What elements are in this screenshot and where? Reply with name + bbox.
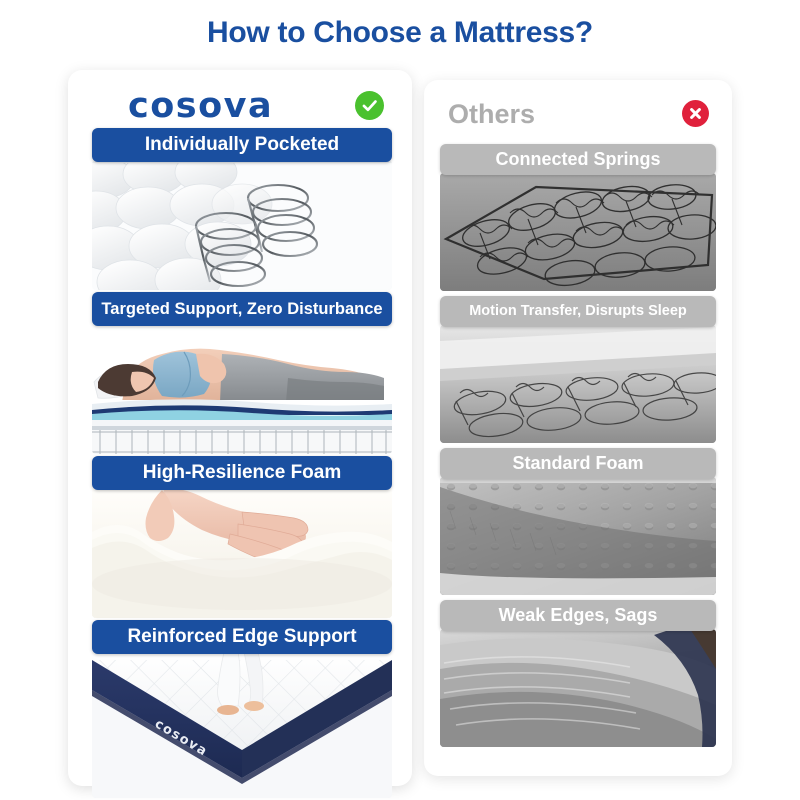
high-resilience-foam-image xyxy=(92,488,392,618)
others-feature-2-label: Motion Transfer, Disrupts Sleep xyxy=(440,296,716,327)
brand-feature-3-label: High-Resilience Foam xyxy=(92,456,392,490)
others-column-panel: Others Connected Springs xyxy=(424,80,732,776)
weak-edges-image xyxy=(440,629,716,747)
others-feature-4-label: Weak Edges, Sags xyxy=(440,600,716,631)
reinforced-edge-support-image: cosova xyxy=(92,652,392,798)
comparison-infographic: How to Choose a Mattress? Others Connect… xyxy=(0,0,800,800)
others-feature-2: Motion Transfer, Disrupts Sleep xyxy=(440,296,716,443)
others-feature-3: Standard Foam xyxy=(440,448,716,595)
motion-transfer-image xyxy=(440,325,716,443)
x-circle-icon xyxy=(682,100,709,127)
page-title: How to Choose a Mattress? xyxy=(0,16,800,50)
brand-feature-3: High-Resilience Foam xyxy=(92,456,392,618)
others-feature-1-label: Connected Springs xyxy=(440,144,716,175)
cosova-logo: cosova xyxy=(128,86,273,126)
individually-pocketed-image xyxy=(92,160,392,290)
connected-springs-image xyxy=(440,173,716,291)
brand-feature-2: Targeted Support, Zero Disturbance xyxy=(92,292,392,454)
brand-feature-1: Individually Pocketed xyxy=(92,128,392,290)
brand-feature-4: Reinforced Edge Support xyxy=(92,620,392,798)
brand-feature-1-label: Individually Pocketed xyxy=(92,128,392,162)
brand-header: cosova xyxy=(96,84,388,128)
standard-foam-image xyxy=(440,477,716,595)
brand-feature-2-label: Targeted Support, Zero Disturbance xyxy=(92,292,392,326)
others-feature-3-label: Standard Foam xyxy=(440,448,716,479)
others-header: Others xyxy=(446,96,712,136)
brand-column-panel: cosova Individually Pocketed xyxy=(68,70,412,786)
others-feature-1: Connected Springs xyxy=(440,144,716,291)
brand-feature-4-label: Reinforced Edge Support xyxy=(92,620,392,654)
targeted-support-image xyxy=(92,324,392,454)
check-circle-icon xyxy=(355,91,384,120)
others-heading: Others xyxy=(448,98,535,130)
others-feature-4: Weak Edges, Sags xyxy=(440,600,716,747)
